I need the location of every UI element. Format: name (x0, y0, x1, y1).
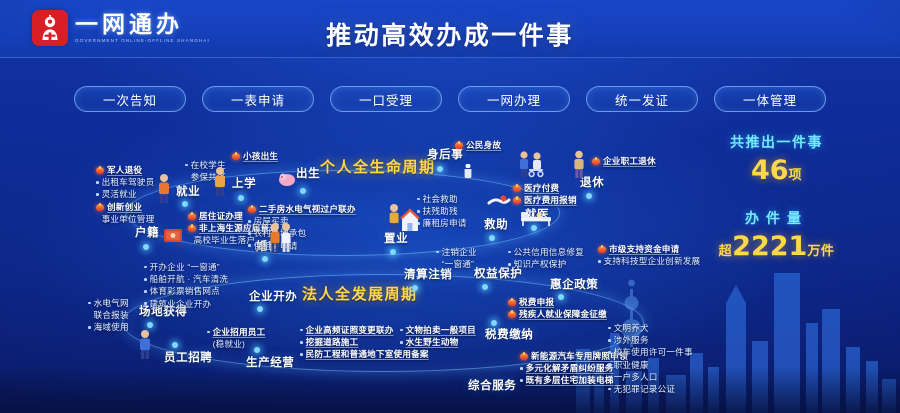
pill-yikoushouli[interactable]: 一口受理 (330, 86, 442, 112)
bullet-icon (300, 329, 303, 332)
list-item-label: 医疗费用报销 (524, 194, 577, 206)
bullet-icon (598, 260, 601, 263)
elderly-care-icon (517, 150, 547, 178)
stat-volume-label: 办件量 (689, 208, 864, 228)
list-item[interactable]: 小孩出生 (232, 150, 278, 162)
list-item[interactable]: 房屋买卖 (248, 215, 356, 227)
list-item-label: 涉外服务 (614, 334, 649, 346)
bullet-icon (185, 164, 188, 167)
list-item-label: 建筑业企业开办 (150, 298, 212, 310)
list-item[interactable]: 海域使用 (88, 321, 129, 333)
bullet-icon (400, 329, 403, 332)
ground-gradient (0, 367, 900, 413)
stat-volume-value: 超2221万件 (689, 231, 864, 262)
group-misc: 文明养犬涉外服务校车使用许可一件事职业健康一户多人口无犯罪记录公证 (608, 322, 693, 395)
node-hiring[interactable]: 员工招聘 (164, 349, 212, 365)
bullet-icon (144, 266, 147, 269)
node-birth[interactable]: 出生 (296, 165, 320, 181)
stat-items-number: 46 (751, 155, 789, 186)
list-item[interactable]: 保租房申请 (248, 240, 356, 252)
list-item[interactable]: 一户多人口 (608, 371, 693, 383)
group-retire: 企业职工退休 (592, 155, 656, 167)
bullet-spacer (188, 239, 191, 242)
list-item[interactable]: 开办企业 “一窗通” (144, 261, 228, 273)
list-item-label: 公共信用信息修复 (514, 246, 584, 258)
list-item[interactable]: 体育彩票销售网点 (144, 285, 228, 297)
list-item-label: 体育彩票销售网点 (150, 285, 220, 297)
list-item[interactable]: 扶残助残 (417, 205, 467, 217)
worker-figure-icon (156, 173, 172, 203)
group-rights: 公共信用信息修复知识产权保护 (508, 246, 584, 270)
list-item-label: 注销企业 (442, 246, 477, 258)
flame-icon (598, 245, 606, 253)
bullet-spacer (207, 343, 210, 346)
dot-household (143, 244, 149, 250)
flame-icon (188, 224, 196, 232)
node-tax[interactable]: 税费缴纳 (485, 326, 533, 342)
baby-figure-icon (276, 168, 298, 190)
dot-venue (147, 322, 153, 328)
group-employment: 军人退役出租车驾驶员灵活就业创新创业事业单位管理 (96, 164, 154, 225)
bullet-spacer (185, 176, 188, 179)
list-item-label: 小孩出生 (243, 150, 278, 162)
bullet-icon (207, 331, 210, 334)
household-register-icon (162, 224, 184, 244)
bullet-icon (417, 198, 420, 201)
stat-volume-unit: 万件 (807, 243, 834, 258)
hospital-bed-icon (519, 207, 553, 227)
list-item[interactable]: 建筑业企业开办 (144, 298, 228, 310)
node-school[interactable]: 上学 (232, 175, 256, 191)
list-item-label: 海域使用 (94, 321, 129, 333)
process-pill-row: 一次告知 一表申请 一口受理 一网办理 统一发证 一体管理 (0, 86, 900, 112)
dot-employment (182, 201, 188, 207)
list-item-label: 廉租房申请 (423, 217, 467, 229)
list-item[interactable]: 涉外服务 (608, 334, 693, 346)
dot-hiring (172, 342, 178, 348)
bullet-icon (88, 302, 91, 305)
bullet-icon (608, 376, 611, 379)
pill-yitiguanli[interactable]: 一体管理 (714, 86, 826, 112)
group-policy: 市级支持资金申请支持科技型企业创新发展 (598, 243, 700, 267)
list-item-label: 多元化解矛盾纠纷服务 (526, 362, 614, 374)
bullet-icon (400, 341, 403, 344)
list-item-label: 市级支持资金申请 (609, 243, 679, 255)
flame-icon (513, 184, 521, 192)
bullet-icon (300, 353, 303, 356)
list-item[interactable]: 事业单位管理 (96, 213, 154, 225)
dot-afterlife (437, 166, 443, 172)
group-medical: 医疗付费医疗费用报销 (513, 182, 577, 206)
bullet-icon (508, 251, 511, 254)
list-item-label: 企业招用员工 (213, 326, 266, 338)
group-hiring: 企业招用员工(稳就业) (207, 326, 265, 350)
list-item-label: 企业高频证照变更联办 (306, 324, 394, 336)
list-item[interactable]: 二手房水电气视过户联办 (248, 203, 356, 215)
flame-icon (592, 157, 600, 165)
list-item[interactable]: 水电气网 (88, 297, 129, 309)
list-item-label: 船舶开航 · 汽车清洗 (150, 273, 229, 285)
list-item-label: 二手房水电气视过户联办 (259, 203, 356, 215)
recruit-figure-icon (137, 329, 153, 359)
list-item[interactable]: 民防工程和普通地下室使用备案 (300, 348, 429, 360)
list-item[interactable]: 医疗费用报销 (513, 194, 577, 206)
list-item-label: 开办企业 “一窗通” (150, 261, 220, 273)
list-item[interactable]: 联合报装 (88, 309, 129, 321)
dot-tax (491, 320, 497, 326)
list-item[interactable]: 灵活就业 (96, 188, 154, 200)
list-item[interactable]: 文明养犬 (608, 322, 693, 334)
bullet-icon (248, 220, 251, 223)
list-item[interactable]: 公共信用信息修复 (508, 246, 584, 258)
list-item[interactable]: 公民身故 (455, 139, 501, 151)
list-item[interactable]: (稳就业) (207, 338, 265, 350)
list-item[interactable]: 残疾人就业保障金征缴 (508, 308, 607, 320)
bullet-icon (88, 326, 91, 329)
flame-icon (455, 141, 463, 149)
group-tax: 税费申报残疾人就业保障金征缴 (508, 296, 607, 320)
dot-rights (482, 284, 488, 290)
memorial-urn-icon (462, 163, 474, 179)
list-item[interactable]: 知识产权保护 (508, 258, 584, 270)
stat-items-unit: 项 (789, 167, 803, 182)
flame-icon (508, 298, 516, 306)
list-item[interactable]: 市级支持资金申请 (598, 243, 700, 255)
pill-yibiaoshenqing[interactable]: 一表申请 (202, 86, 314, 112)
list-item[interactable]: 税费申报 (508, 296, 607, 308)
dot-school (238, 195, 244, 201)
list-item-label: 知识产权保护 (514, 258, 567, 270)
list-item-label: 灵活就业 (102, 188, 137, 200)
flame-icon (96, 203, 104, 211)
retiree-figure-icon (571, 150, 587, 178)
page-title: 推动高效办成一件事 (0, 16, 900, 52)
list-item[interactable]: 校车使用许可一件事 (608, 346, 693, 358)
bullet-icon (248, 232, 251, 235)
dot-retirement (586, 193, 592, 199)
bullet-icon (608, 327, 611, 330)
section-heading-personal: 个人全生命周期 (320, 156, 436, 177)
list-item-label: 税费申报 (519, 296, 554, 308)
group-startup: 开办企业 “一窗通”船舶开航 · 汽车清洗体育彩票销售网点建筑业企业开办 (144, 261, 228, 310)
bullet-icon (608, 388, 611, 391)
list-item[interactable]: 船舶开航 · 汽车清洗 (144, 273, 228, 285)
node-employment[interactable]: 就业 (176, 183, 200, 199)
node-policy[interactable]: 惠企政策 (550, 276, 598, 292)
stat-volume-number: 2221 (732, 231, 807, 262)
list-item-label: 企业职工退休 (603, 155, 656, 167)
stats-panel: 共推出一件事 46项 办件量 超2221万件 (689, 132, 864, 262)
list-item[interactable]: 创新创业 (96, 201, 154, 213)
list-item-label: 军人退役 (107, 164, 142, 176)
bullet-icon (520, 379, 523, 382)
couple-figure-icon (268, 222, 294, 252)
infographic-canvas: 一网通办 GOVERNMENT ONLINE-OFFLINE SHANGHAI … (0, 0, 900, 413)
section-heading-legal: 法人全发展周期 (302, 283, 418, 304)
list-item[interactable]: 企业招用员工 (207, 326, 265, 338)
list-item-label: “一窗通” (442, 258, 475, 270)
list-item[interactable]: 水生野生动物 (400, 336, 476, 348)
node-general-services[interactable]: 综合服务 (468, 377, 516, 393)
list-item[interactable]: 支持科技型企业创新发展 (598, 255, 700, 267)
list-item-label: 民防工程和普通地下室使用备案 (306, 348, 429, 360)
list-item[interactable]: 文物拍卖一般项目 (400, 324, 476, 336)
list-item[interactable]: 企业职工退休 (592, 155, 656, 167)
student-figure-icon (212, 166, 228, 196)
list-item-label: 扶残助残 (423, 205, 458, 217)
bullet-spacer (436, 263, 439, 266)
bullet-spacer (96, 218, 99, 221)
list-item-label: 创新创业 (107, 201, 142, 213)
group-property: 二手房水电气视过户联办房屋买卖农村土地承包保租房申请 (248, 203, 356, 252)
list-item-label: 出租车驾驶员 (102, 176, 155, 188)
bullet-icon (144, 278, 147, 281)
dot-cancellation (412, 285, 418, 291)
bullet-icon (520, 367, 523, 370)
group-cancel: 注销企业“一窗通” (436, 246, 477, 270)
list-item-label: 联合报装 (94, 309, 129, 321)
list-item[interactable]: 职业健康 (608, 359, 693, 371)
list-item[interactable]: 社会救助 (417, 193, 467, 205)
bullet-icon (248, 244, 251, 247)
list-item[interactable]: 出租车驾驶员 (96, 176, 154, 188)
bullet-icon (144, 290, 147, 293)
flame-icon (248, 205, 256, 213)
bullet-icon (436, 251, 439, 254)
node-property[interactable]: 置业 (384, 230, 408, 246)
dot-property (390, 249, 396, 255)
helping-hands-icon (487, 190, 511, 208)
list-item-label: 水电气网 (94, 297, 129, 309)
list-item-label: 事业单位管理 (102, 213, 155, 225)
list-item-label: 公民身故 (466, 139, 501, 151)
bullet-spacer (88, 314, 91, 317)
list-item-label: (稳就业) (213, 338, 246, 350)
list-item-label: 医疗付费 (524, 182, 559, 194)
list-item[interactable]: “一窗通” (436, 258, 477, 270)
bullet-icon (96, 181, 99, 184)
bullet-icon (300, 341, 303, 344)
list-item-label: 挖掘道路施工 (306, 336, 359, 348)
node-operation[interactable]: 生产经营 (246, 354, 294, 370)
node-startup[interactable]: 企业开办 (249, 288, 297, 304)
list-item-label: 支持科技型企业创新发展 (604, 255, 701, 267)
flame-icon (188, 212, 196, 220)
bullet-icon (508, 263, 511, 266)
list-item-label: 既有多层住宅加装电梯 (526, 374, 614, 386)
group-operation-b: 文物拍卖一般项目水生野生动物 (400, 324, 476, 348)
bullet-icon (608, 351, 611, 354)
stat-volume-prefix: 超 (719, 243, 733, 258)
pill-yiwangbanli[interactable]: 一网办理 (458, 86, 570, 112)
list-item[interactable]: 注销企业 (436, 246, 477, 258)
list-item[interactable]: 廉租房申请 (417, 217, 467, 229)
group-relief: 社会救助扶残助残廉租房申请 (417, 193, 467, 230)
flame-icon (232, 152, 240, 160)
list-item-label: 职业健康 (614, 359, 649, 371)
bullet-icon (144, 302, 147, 305)
bullet-icon (96, 193, 99, 196)
flame-icon (513, 196, 521, 204)
list-item[interactable]: 无犯罪记录公证 (608, 383, 693, 395)
flame-icon (520, 352, 528, 360)
group-birth: 小孩出生 (232, 150, 278, 162)
list-item[interactable]: 军人退役 (96, 164, 154, 176)
list-item-label: 校车使用许可一件事 (614, 346, 693, 358)
list-item-label: 高校毕业生落户 (194, 234, 256, 246)
list-item-label: 文明养犬 (614, 322, 649, 334)
list-item-label: 居住证办理 (199, 210, 243, 222)
pill-tongyifazheng[interactable]: 统一发证 (586, 86, 698, 112)
stat-items-label: 共推出一件事 (689, 132, 864, 152)
list-item-label: 文物拍卖一般项目 (406, 324, 476, 336)
node-household[interactable]: 户籍 (135, 224, 159, 240)
list-item-label: 一户多人口 (614, 371, 658, 383)
group-venue: 水电气网联合报装海域使用 (88, 297, 129, 334)
list-item-label: 残疾人就业保障金征缴 (519, 308, 607, 320)
list-item-label: 水生野生动物 (406, 336, 459, 348)
list-item[interactable]: 农村土地承包 (248, 227, 356, 239)
group-afterlife: 公民身故 (455, 139, 501, 151)
bullet-icon (608, 339, 611, 342)
dot-startup (257, 306, 263, 312)
home-purchase-icon (385, 203, 421, 231)
pill-yicigaozhi[interactable]: 一次告知 (74, 86, 186, 112)
list-item-label: 社会救助 (423, 193, 458, 205)
list-item-label: 无犯罪记录公证 (614, 383, 676, 395)
dot-relief (489, 235, 495, 241)
node-relief[interactable]: 救助 (484, 216, 508, 232)
dot-birth (300, 188, 306, 194)
list-item[interactable]: 医疗付费 (513, 182, 577, 194)
stat-items-value: 46项 (689, 155, 864, 186)
bullet-icon (608, 363, 611, 366)
dot-marriage (262, 256, 268, 262)
flame-icon (96, 166, 104, 174)
flame-icon (508, 310, 516, 318)
